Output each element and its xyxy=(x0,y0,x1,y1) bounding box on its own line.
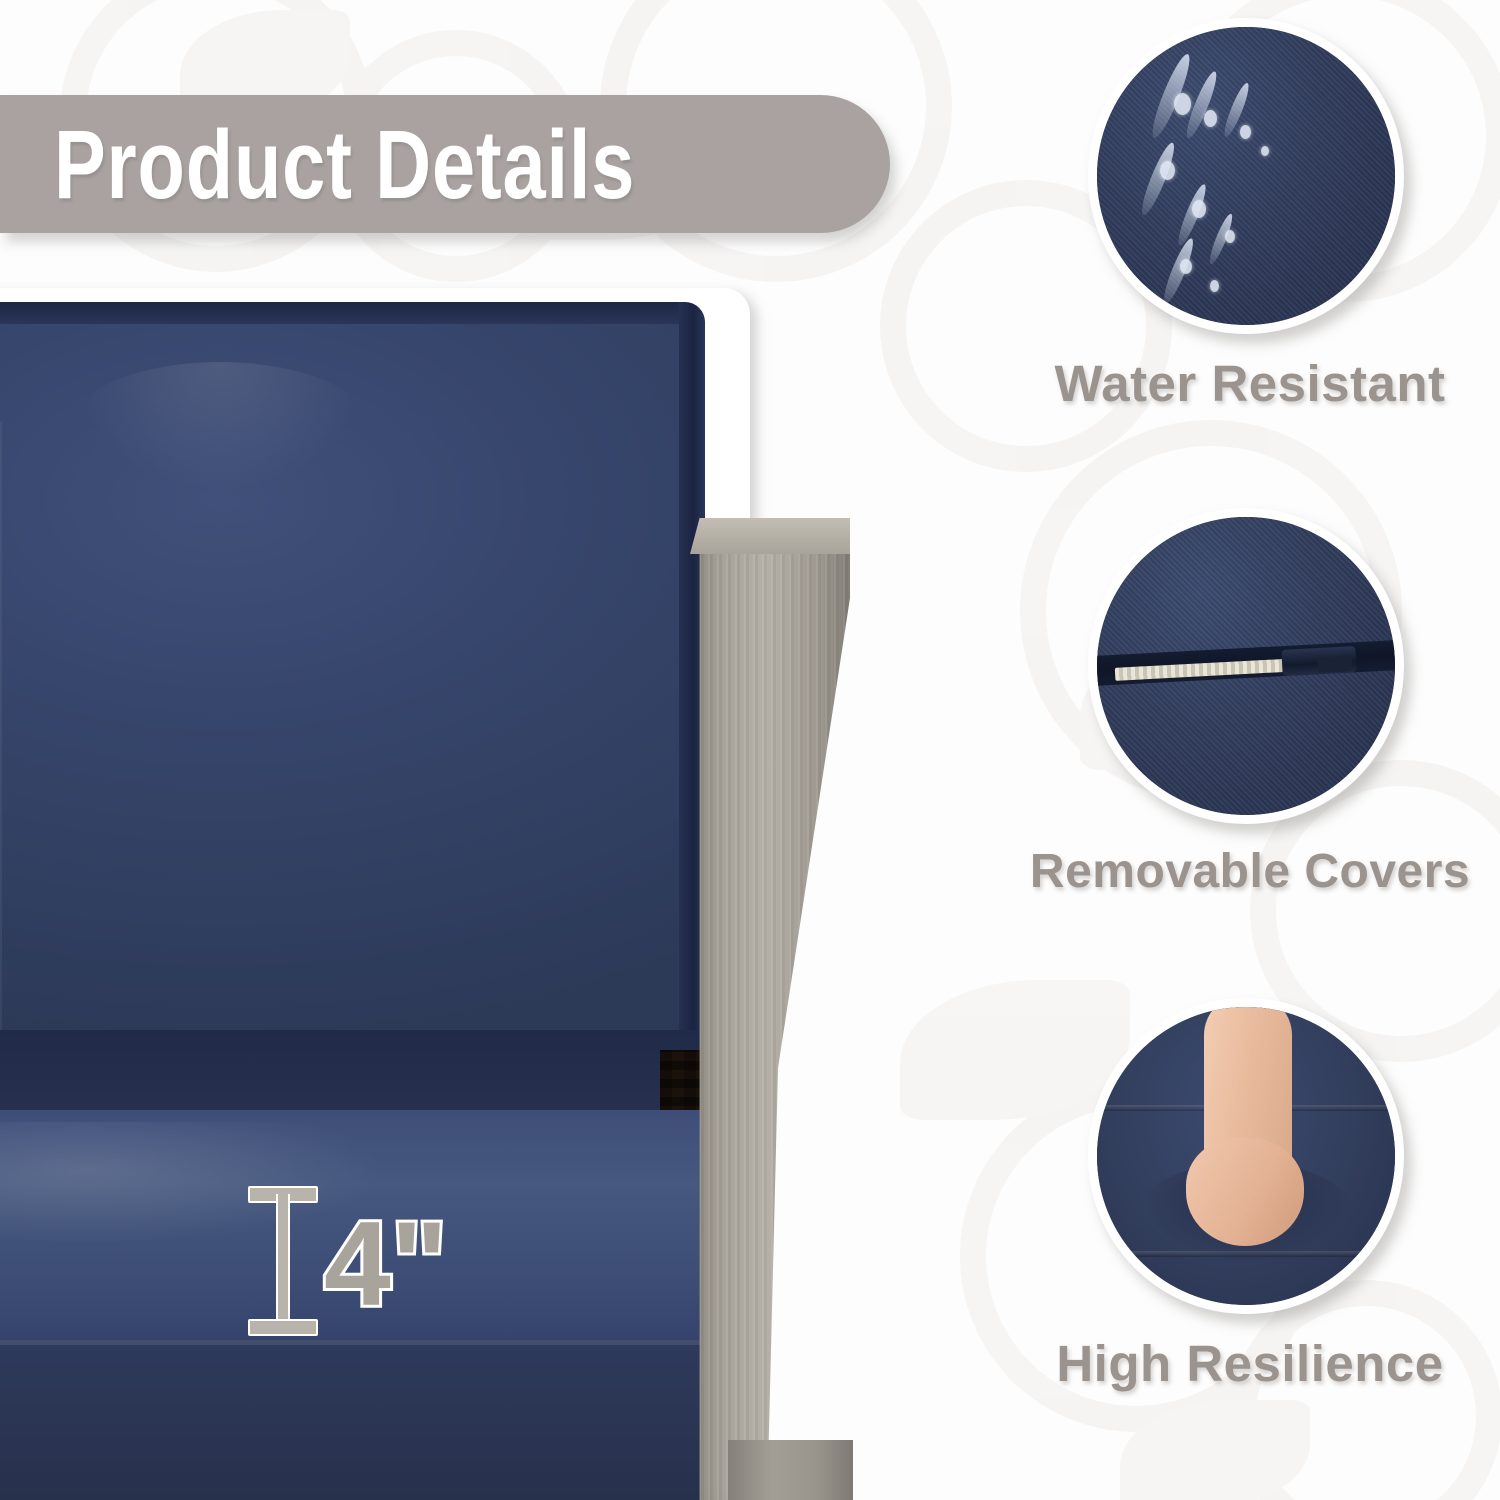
feature-label-water-resistant: Water Resistant xyxy=(1000,354,1500,413)
dimension-marker xyxy=(246,1186,316,1336)
product-photo xyxy=(0,250,905,1500)
cushion-highlight xyxy=(70,362,370,492)
seat-cushion-front-edge xyxy=(0,1340,730,1500)
zipper-circle-image xyxy=(1088,508,1404,824)
back-cushion xyxy=(0,302,705,1092)
feature-column: Water Resistant Removable Covers xyxy=(1000,0,1500,1500)
seat-front-seam xyxy=(0,1340,730,1345)
header-banner: Product Details xyxy=(0,95,890,233)
armrest-top-cap xyxy=(690,518,850,554)
fist xyxy=(1186,1138,1304,1246)
infographic-canvas: 4" Product Details xyxy=(0,0,1500,1500)
water-droplets-circle-image xyxy=(1088,18,1404,334)
navy-fabric-texture xyxy=(1097,27,1395,325)
seat-highlight xyxy=(0,1122,380,1242)
armrest-wood-grain xyxy=(690,518,850,1500)
cushion-piping-top xyxy=(0,302,705,324)
feature-label-removable-covers: Removable Covers xyxy=(1000,844,1500,899)
feature-label-high-resilience: High Resilience xyxy=(1000,1334,1500,1393)
dimension-cap-bottom xyxy=(248,1319,318,1336)
cushion-seam xyxy=(0,422,2,1062)
zipper-pull-tab xyxy=(1317,656,1352,673)
armrest-support-post xyxy=(728,1440,853,1500)
page-title: Product Details xyxy=(54,116,635,213)
dimension-line xyxy=(276,1194,290,1328)
hand-press-circle-image xyxy=(1088,998,1404,1314)
dimension-value-label: 4" xyxy=(324,1204,448,1324)
